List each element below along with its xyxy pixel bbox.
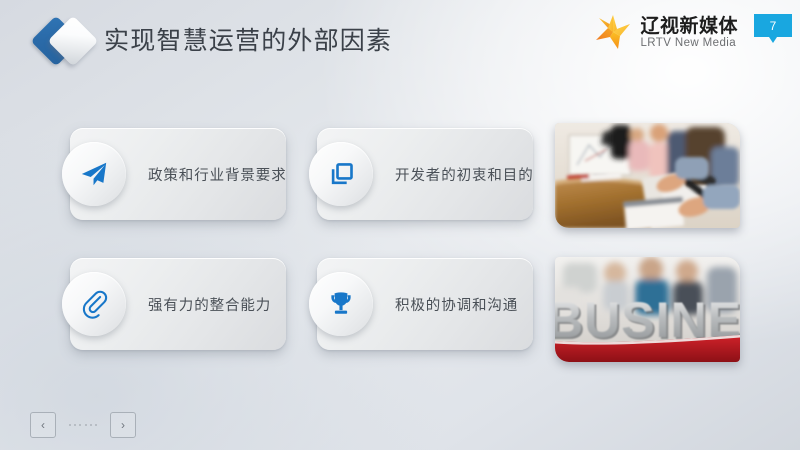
paperclip-icon bbox=[62, 272, 126, 336]
card-item[interactable]: 强有力的整合能力 bbox=[70, 258, 286, 350]
card-item[interactable]: 开发者的初衷和目的 bbox=[317, 128, 533, 220]
slide-canvas: 实现智慧运营的外部因素 bbox=[0, 0, 800, 450]
meeting-training-photo bbox=[555, 123, 740, 228]
nav-dot bbox=[90, 424, 92, 426]
card-label: 积极的协调和沟通 bbox=[395, 294, 518, 315]
nav-dot bbox=[85, 424, 87, 426]
card-item[interactable]: 政策和行业背景要求 bbox=[70, 128, 286, 220]
trophy-icon bbox=[309, 272, 373, 336]
nav-dots bbox=[69, 424, 97, 426]
copy-layers-icon bbox=[309, 142, 373, 206]
prev-slide-button[interactable]: ‹ bbox=[30, 412, 56, 438]
nav-dot bbox=[69, 424, 71, 426]
card-label: 政策和行业背景要求 bbox=[148, 164, 287, 185]
card-label: 强有力的整合能力 bbox=[148, 294, 271, 315]
nav-dot bbox=[79, 424, 81, 426]
nav-dot bbox=[95, 424, 97, 426]
next-slide-button[interactable]: › bbox=[110, 412, 136, 438]
card-item[interactable]: 积极的协调和沟通 bbox=[317, 258, 533, 350]
slide-navigation: ‹ › bbox=[30, 412, 136, 438]
paper-plane-icon bbox=[62, 142, 126, 206]
card-label: 开发者的初衷和目的 bbox=[395, 164, 534, 185]
business-sign-photo: BUSINESS BUSINESS bbox=[555, 257, 740, 362]
nav-dot bbox=[74, 424, 76, 426]
